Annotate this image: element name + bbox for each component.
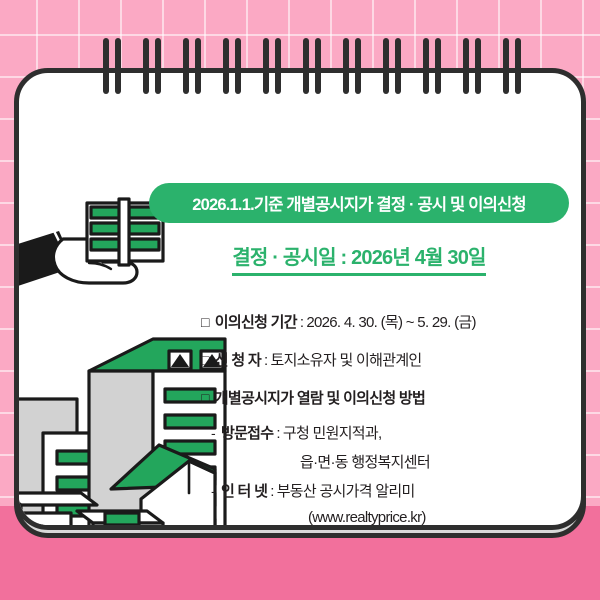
method-label: 인 터 넷: [221, 480, 267, 501]
method-item-internet: - 인 터 넷 : 부동산 공시가격 알리미: [201, 480, 586, 501]
content-column: 2026.1.1.기준 개별공시지가 결정 · 공시 및 이의신청 결정 · 공…: [139, 163, 586, 530]
list-item-value: 토지소유자 및 이해관계인: [270, 349, 421, 370]
list-item-separator: :: [264, 352, 267, 369]
method-value: 구청 민원지적과,: [283, 422, 382, 443]
hand-icon: [53, 239, 137, 283]
method-continuation: 읍·면·동 행정복지센터: [300, 451, 430, 472]
subheading: 결정 · 공시일 : 2026년 4월 30일: [232, 241, 485, 276]
method-separator: :: [276, 425, 279, 442]
method-item-internet-url[interactable]: (www.realtyprice.kr): [201, 509, 586, 526]
method-item-visit: - 방문접수 : 구청 민원지적과,: [201, 422, 586, 443]
list-item-separator: :: [300, 314, 303, 331]
headline-banner: 2026.1.1.기준 개별공시지가 결정 · 공시 및 이의신청: [149, 183, 569, 223]
method-separator: :: [270, 483, 273, 500]
checkbox-icon: □: [201, 314, 209, 330]
apartment-building-icon: [19, 399, 139, 530]
subheading-wrap: 결정 · 공시일 : 2026년 4월 30일: [149, 241, 569, 276]
list-item-appeal-period: □ 이의신청 기간 : 2026. 4. 30. (목) ~ 5. 29. (금…: [201, 311, 586, 332]
list-item-method-heading: □ 개별공시지가 열람 및 이의신청 방법: [201, 387, 586, 408]
method-label: 방문접수: [221, 422, 273, 443]
notepad-card: 2026.1.1.기준 개별공시지가 결정 · 공시 및 이의신청 결정 · 공…: [14, 68, 586, 530]
list-item-applicant: □ 신 청 자 : 토지소유자 및 이해관계인: [201, 349, 586, 370]
list-item-label: 개별공시지가 열람 및 이의신청 방법: [215, 387, 425, 408]
dash-icon: -: [211, 425, 215, 441]
checkbox-icon: □: [201, 352, 209, 368]
list-item-value: 2026. 4. 30. (목) ~ 5. 29. (금): [306, 311, 475, 332]
dash-icon: -: [211, 483, 215, 499]
method-value: 부동산 공시가격 알리미: [277, 480, 415, 501]
website-url[interactable]: (www.realtyprice.kr): [308, 509, 426, 526]
arm-sleeve-icon: [19, 226, 79, 291]
poster-root: 2026.1.1.기준 개별공시지가 결정 · 공시 및 이의신청 결정 · 공…: [0, 0, 600, 600]
checkbox-icon: □: [201, 390, 209, 406]
list-item-label: 이의신청 기간: [215, 311, 297, 332]
list-item-label: 신 청 자: [215, 349, 261, 370]
notice-body: □ 이의신청 기간 : 2026. 4. 30. (목) ~ 5. 29. (금…: [201, 311, 586, 530]
method-item-visit-continuation: 읍·면·동 행정복지센터: [201, 451, 586, 472]
